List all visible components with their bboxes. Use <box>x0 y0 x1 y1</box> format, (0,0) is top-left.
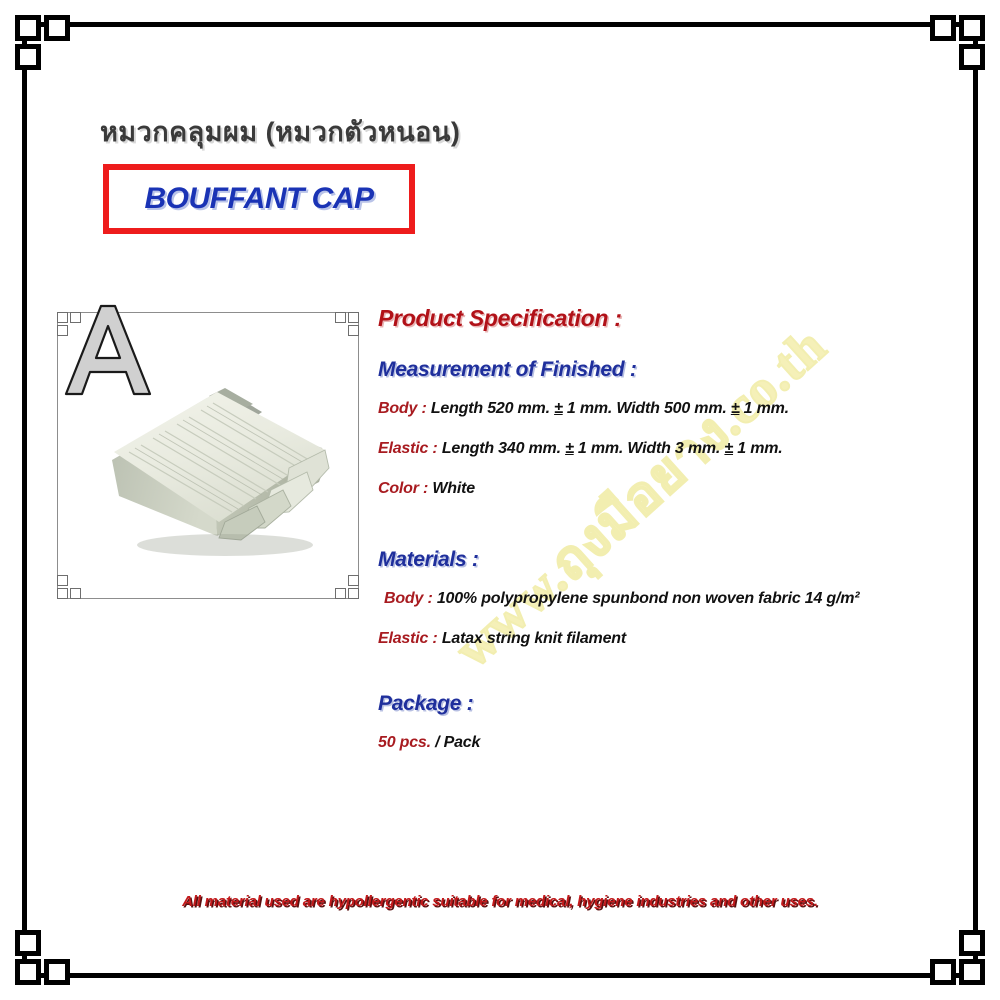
package-quantity: 50 pcs. <box>378 734 431 751</box>
thai-product-title: หมวกคลุมผม (หมวกตัวหนอน) <box>100 110 460 153</box>
corner-square <box>959 44 985 70</box>
corner-ornament-top-right <box>921 15 985 79</box>
photo-corner-square <box>348 325 359 336</box>
photo-corner-square <box>348 312 359 323</box>
materials-row-elastic: Elastic : Latax string knit filament <box>378 630 978 648</box>
corner-square <box>930 959 956 985</box>
corner-square <box>15 959 41 985</box>
color-value: White <box>432 480 475 497</box>
measurement-body-value-1: Length 520 mm. <box>431 400 554 417</box>
measurement-body-value-3: 1 mm. <box>739 400 789 417</box>
specification-column: Product Specification : Measurement of F… <box>378 305 978 774</box>
corner-square <box>959 959 985 985</box>
corner-square <box>930 15 956 41</box>
measurement-elastic-value-2: 1 mm. Width 3 mm. <box>574 440 725 457</box>
corner-ornament-bottom-left <box>15 921 79 985</box>
corner-ornament-top-left <box>15 15 79 79</box>
photo-corner-square <box>348 575 359 586</box>
spec-main-heading: Product Specification : <box>378 305 978 332</box>
photo-corner-square <box>335 588 346 599</box>
materials-elastic-value: Latax string knit filament <box>442 630 626 647</box>
plus-minus-icon: ± <box>554 400 563 417</box>
photo-corner-square <box>57 312 68 323</box>
corner-square <box>15 44 41 70</box>
photo-corner-top-left <box>57 312 87 342</box>
photo-corner-square <box>57 588 68 599</box>
measurement-elastic-value-3: 1 mm. <box>733 440 783 457</box>
corner-square <box>15 15 41 41</box>
measurement-row-body: Body : Length 520 mm. ± 1 mm. Width 500 … <box>378 400 978 418</box>
photo-corner-top-right <box>329 312 359 342</box>
footer-note: All material used are hypollergentic sui… <box>0 893 1000 910</box>
section-spacer <box>378 670 978 692</box>
measurement-body-value-2: 1 mm. Width 500 mm. <box>563 400 731 417</box>
photo-corner-square <box>335 312 346 323</box>
corner-square <box>959 930 985 956</box>
photo-corner-square <box>57 575 68 586</box>
photo-corner-bottom-left <box>57 569 87 599</box>
photo-corner-square <box>70 312 81 323</box>
color-key: Color : <box>378 480 428 497</box>
materials-body-key: Body : <box>384 590 433 607</box>
materials-elastic-key: Elastic : <box>378 630 438 647</box>
photo-corner-square <box>70 588 81 599</box>
corner-square <box>959 15 985 41</box>
english-product-title: BOUFFANT CAP <box>145 182 374 216</box>
package-row: 50 pcs. / Pack <box>378 734 978 752</box>
plus-minus-icon: ± <box>724 440 733 457</box>
product-photo-frame <box>57 312 359 599</box>
corner-square <box>15 930 41 956</box>
corner-ornament-bottom-right <box>921 921 985 985</box>
materials-body-value: 100% polypropylene spunbond non woven fa… <box>437 590 860 607</box>
package-unit: / Pack <box>435 734 480 751</box>
materials-row-body: Body : 100% polypropylene spunbond non w… <box>384 590 978 608</box>
english-title-box: BOUFFANT CAP <box>103 164 415 234</box>
plus-minus-icon: ± <box>565 440 574 457</box>
measurement-row-elastic: Elastic : Length 340 mm. ± 1 mm. Width 3… <box>378 440 978 458</box>
section-spacer <box>378 520 978 548</box>
photo-corner-square <box>57 325 68 336</box>
measurement-elastic-key: Elastic : <box>378 440 438 457</box>
corner-square <box>44 15 70 41</box>
package-heading: Package : <box>378 692 978 716</box>
product-spec-sheet: หมวกคลุมผม (หมวกตัวหนอน) BOUFFANT CAP ww… <box>0 0 1000 1000</box>
corner-square <box>44 959 70 985</box>
measurement-row-color: Color : White <box>378 480 978 498</box>
measurement-heading: Measurement of Finished : <box>378 358 978 382</box>
photo-corner-square <box>348 588 359 599</box>
materials-heading: Materials : <box>378 548 978 572</box>
photo-corner-bottom-right <box>329 569 359 599</box>
measurement-elastic-value-1: Length 340 mm. <box>442 440 565 457</box>
measurement-body-key: Body : <box>378 400 427 417</box>
